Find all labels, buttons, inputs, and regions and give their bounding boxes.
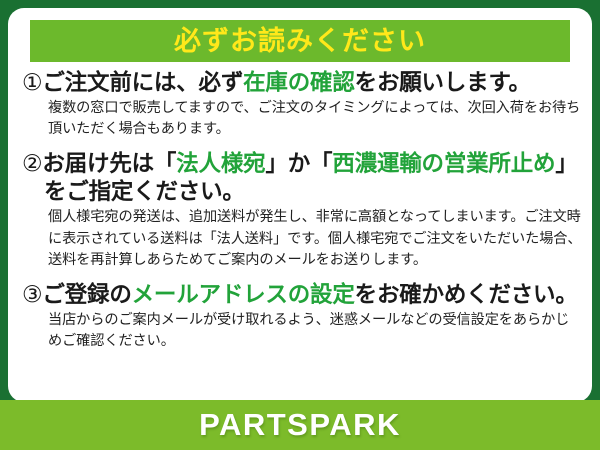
notice-item-2-heading-part-1: お届け先は「 <box>42 151 176 176</box>
notice-item-3-heading-part-1: ご登録の <box>42 282 131 307</box>
notice-item-2-heading-highlight-1: 法人様宛 <box>176 151 265 176</box>
brand-logo-text: PARTSPARK <box>199 407 401 443</box>
notice-inner-panel: 必ずお読みください ①ご注文前には、必ず在庫の確認をお願いします。 複数の窓口で… <box>8 8 592 402</box>
notice-item-3-heading-part-3: をお確かめください。 <box>355 282 578 307</box>
notice-item-3-heading-highlight: メールアドレスの設定 <box>132 282 355 307</box>
notice-item-2: ②お届け先は「法人様宛」か「西濃運輸の営業所止め」 をご指定ください。 個人様宅… <box>22 149 582 271</box>
notice-item-3: ③ご登録のメールアドレスの設定をお確かめください。 当店からのご案内メールが受け… <box>22 280 582 352</box>
notice-item-2-heading-part-3: 」か「 <box>265 151 332 176</box>
notice-item-2-heading-line2: をご指定ください。 <box>44 178 582 206</box>
notice-item-2-heading-part-5: 」 <box>555 151 577 176</box>
notice-item-1: ①ご注文前には、必ず在庫の確認をお願いします。 複数の窓口で販売してますので、ご… <box>22 68 582 140</box>
notice-body: ①ご注文前には、必ず在庫の確認をお願いします。 複数の窓口で販売してますので、ご… <box>22 68 582 355</box>
header-banner: 必ずお読みください <box>30 20 570 62</box>
notice-item-2-number: ② <box>22 150 42 176</box>
notice-item-1-note: 複数の窓口で販売してますので、ご注文のタイミングによっては、次回入荷をお待ち頂い… <box>48 98 582 141</box>
notice-item-2-note: 個人様宅宛の発送は、追加送料が発生し、非常に高額となってしまいます。ご注文時に表… <box>48 207 582 271</box>
notice-item-3-heading: ③ご登録のメールアドレスの設定をお確かめください。 <box>22 280 582 309</box>
notice-item-2-heading-highlight-2: 西濃運輸の営業所止め <box>332 151 555 176</box>
footer-band: PARTSPARK <box>0 400 600 450</box>
notice-card: 必ずお読みください ①ご注文前には、必ず在庫の確認をお願いします。 複数の窓口で… <box>0 0 600 450</box>
notice-item-2-heading: ②お届け先は「法人様宛」か「西濃運輸の営業所止め」 <box>22 149 582 178</box>
notice-item-3-number: ③ <box>22 281 42 307</box>
notice-item-1-heading-highlight: 在庫の確認 <box>243 70 355 95</box>
notice-item-1-heading-part-1: ご注文前には、必ず <box>42 70 243 95</box>
header-title: 必ずお読みください <box>174 28 426 55</box>
notice-item-1-heading-part-3: をお願いします。 <box>355 70 531 95</box>
notice-item-1-heading: ①ご注文前には、必ず在庫の確認をお願いします。 <box>22 68 582 97</box>
notice-item-3-note: 当店からのご案内メールが受け取れるよう、迷惑メールなどの受信設定をあらかじめご確… <box>48 310 582 353</box>
notice-item-1-number: ① <box>22 69 42 95</box>
